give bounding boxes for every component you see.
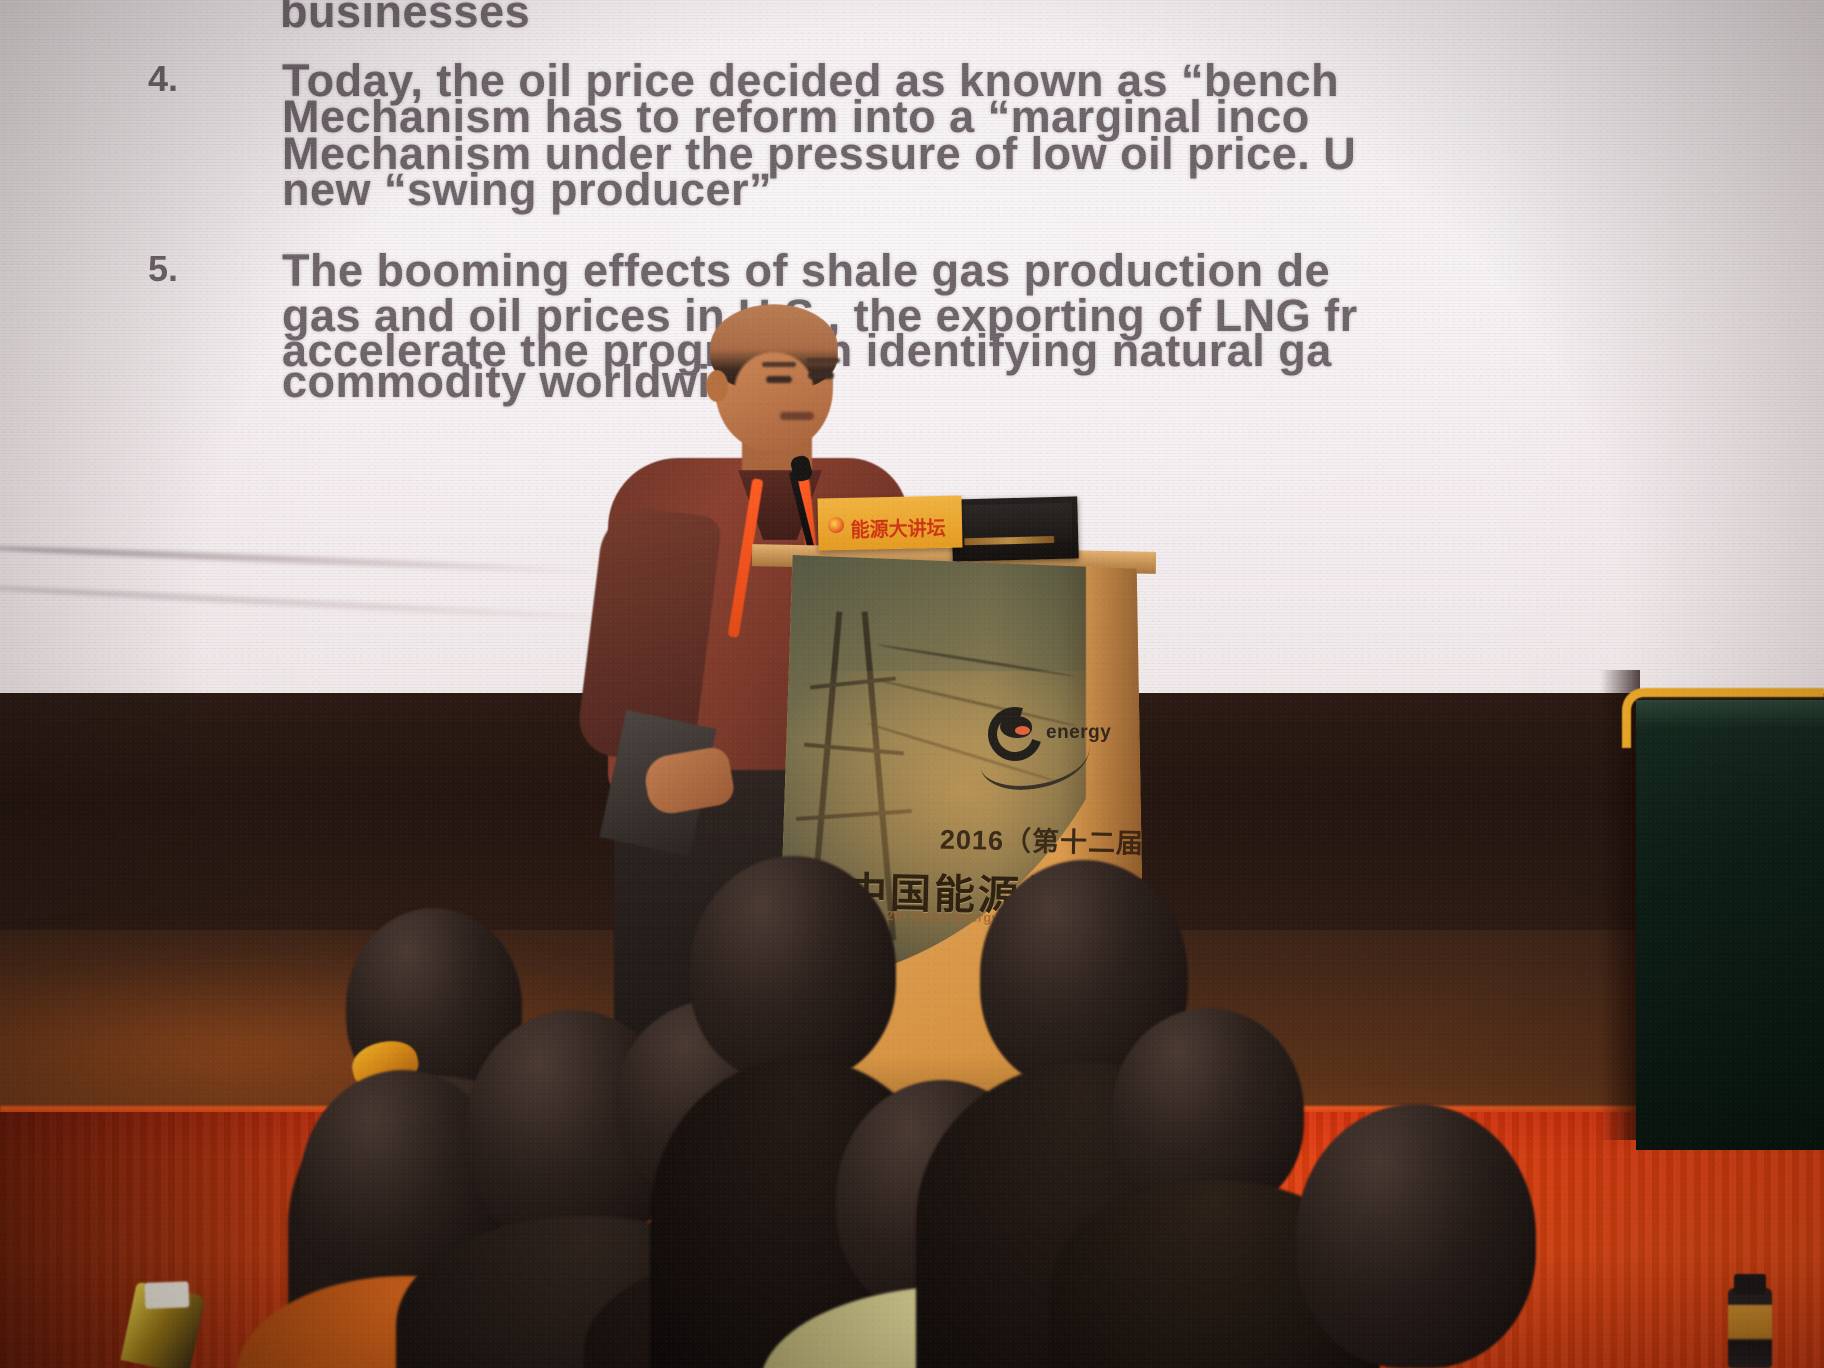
laptop-computer (951, 496, 1079, 561)
slide-swoosh-line-1 (0, 544, 610, 576)
slide-bullet-4-number: 4. (148, 58, 178, 100)
booklet-page (144, 1281, 189, 1309)
speaker-ear (706, 370, 728, 402)
audience-head-6 (690, 856, 896, 1082)
event-nameplate-card: 能源大讲坛 (817, 495, 962, 550)
slide-bullet-5-number: 5. (148, 248, 178, 290)
rolled-booklet (120, 1282, 205, 1368)
speaker-eyebrow-right (806, 358, 840, 363)
sun-logo-icon (828, 517, 844, 533)
conference-photo: businesses 4. Today, the oil price decid… (0, 0, 1824, 1368)
water-bottle (1728, 1288, 1772, 1368)
speaker-eye-right (808, 372, 834, 379)
laptop-brand-strip (964, 536, 1054, 545)
gold-frame-rail (1622, 688, 1824, 748)
logo-red-accent-icon (1015, 726, 1030, 735)
audience-head-10 (1296, 1104, 1536, 1368)
nameplate-text: 能源大讲坛 (850, 512, 946, 543)
speaker-mouth (780, 412, 814, 420)
bottle-cap (1734, 1274, 1766, 1294)
slide-line-continuation: businesses (280, 0, 530, 38)
draped-side-table (1636, 700, 1824, 1150)
slide-bullet-4-line-4: new “swing producer” (282, 164, 772, 216)
slide-swoosh-line-2 (0, 583, 660, 624)
speaker-eyebrow-left (762, 362, 796, 367)
speaker-eye-left (766, 376, 792, 383)
